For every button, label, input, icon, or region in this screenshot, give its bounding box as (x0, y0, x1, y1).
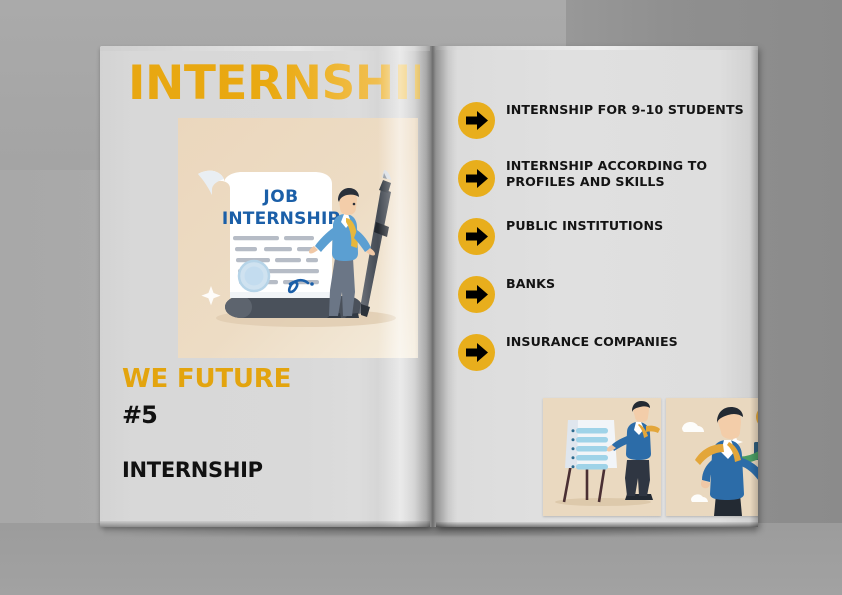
right-page-outer-edge (750, 46, 758, 527)
arrow-right-circle-icon (458, 102, 495, 139)
arrow-right-circle-icon (458, 218, 495, 255)
arrow-right-circle-icon (458, 276, 495, 313)
presentation-flipchart-illustration (543, 398, 661, 516)
bullet-list: INTERNSHIP FOR 9-10 STUDENTS INTERNSHIP … (458, 102, 748, 392)
left-page-bottom-edge (100, 521, 430, 527)
right-page: INTERNSHIP FOR 9-10 STUDENTS INTERNSHIP … (436, 46, 758, 527)
thumbnail-row: $ (543, 398, 758, 516)
page-number-label: #5 (122, 401, 157, 429)
list-item-label: PUBLIC INSTITUTIONS (506, 218, 746, 234)
list-item-label: INTERNSHIP FOR 9-10 STUDENTS (506, 102, 746, 118)
list-item: PUBLIC INSTITUTIONS (458, 218, 748, 276)
open-brochure: INTERNSHIP (100, 46, 758, 528)
thumbnail-presentation (543, 398, 661, 516)
footer-label: INTERNSHIP (122, 458, 263, 482)
svg-text:INTERNSHIP: INTERNSHIP (222, 209, 340, 229)
arrow-right-circle-icon (458, 160, 495, 197)
business-growth-chart-illustration: $ (666, 398, 758, 516)
list-item: INTERNSHIP ACCORDING TO PROFILES AND SKI… (458, 160, 748, 218)
right-page-bottom-edge (436, 522, 758, 527)
thumbnail-growth: $ (666, 398, 758, 516)
screenshot-root: INTERNSHIP (0, 0, 842, 595)
page-title: INTERNSHIP (128, 56, 420, 111)
list-item-label: INSURANCE COMPANIES (506, 334, 746, 350)
list-item: INSURANCE COMPANIES (458, 334, 748, 392)
left-page-curve-shading (378, 46, 430, 527)
list-item-label: INTERNSHIP ACCORDING TO PROFILES AND SKI… (506, 158, 746, 189)
right-page-gutter-shadow (436, 46, 458, 527)
arrow-right-circle-icon (458, 334, 495, 371)
svg-text:JOB: JOB (262, 187, 298, 207)
list-item-label: BANKS (506, 276, 746, 292)
right-page-top-edge (436, 46, 758, 50)
list-item: INTERNSHIP FOR 9-10 STUDENTS (458, 102, 748, 160)
list-item: BANKS (458, 276, 748, 334)
left-page: INTERNSHIP (100, 46, 430, 527)
subheadline: WE FUTURE (122, 364, 291, 394)
